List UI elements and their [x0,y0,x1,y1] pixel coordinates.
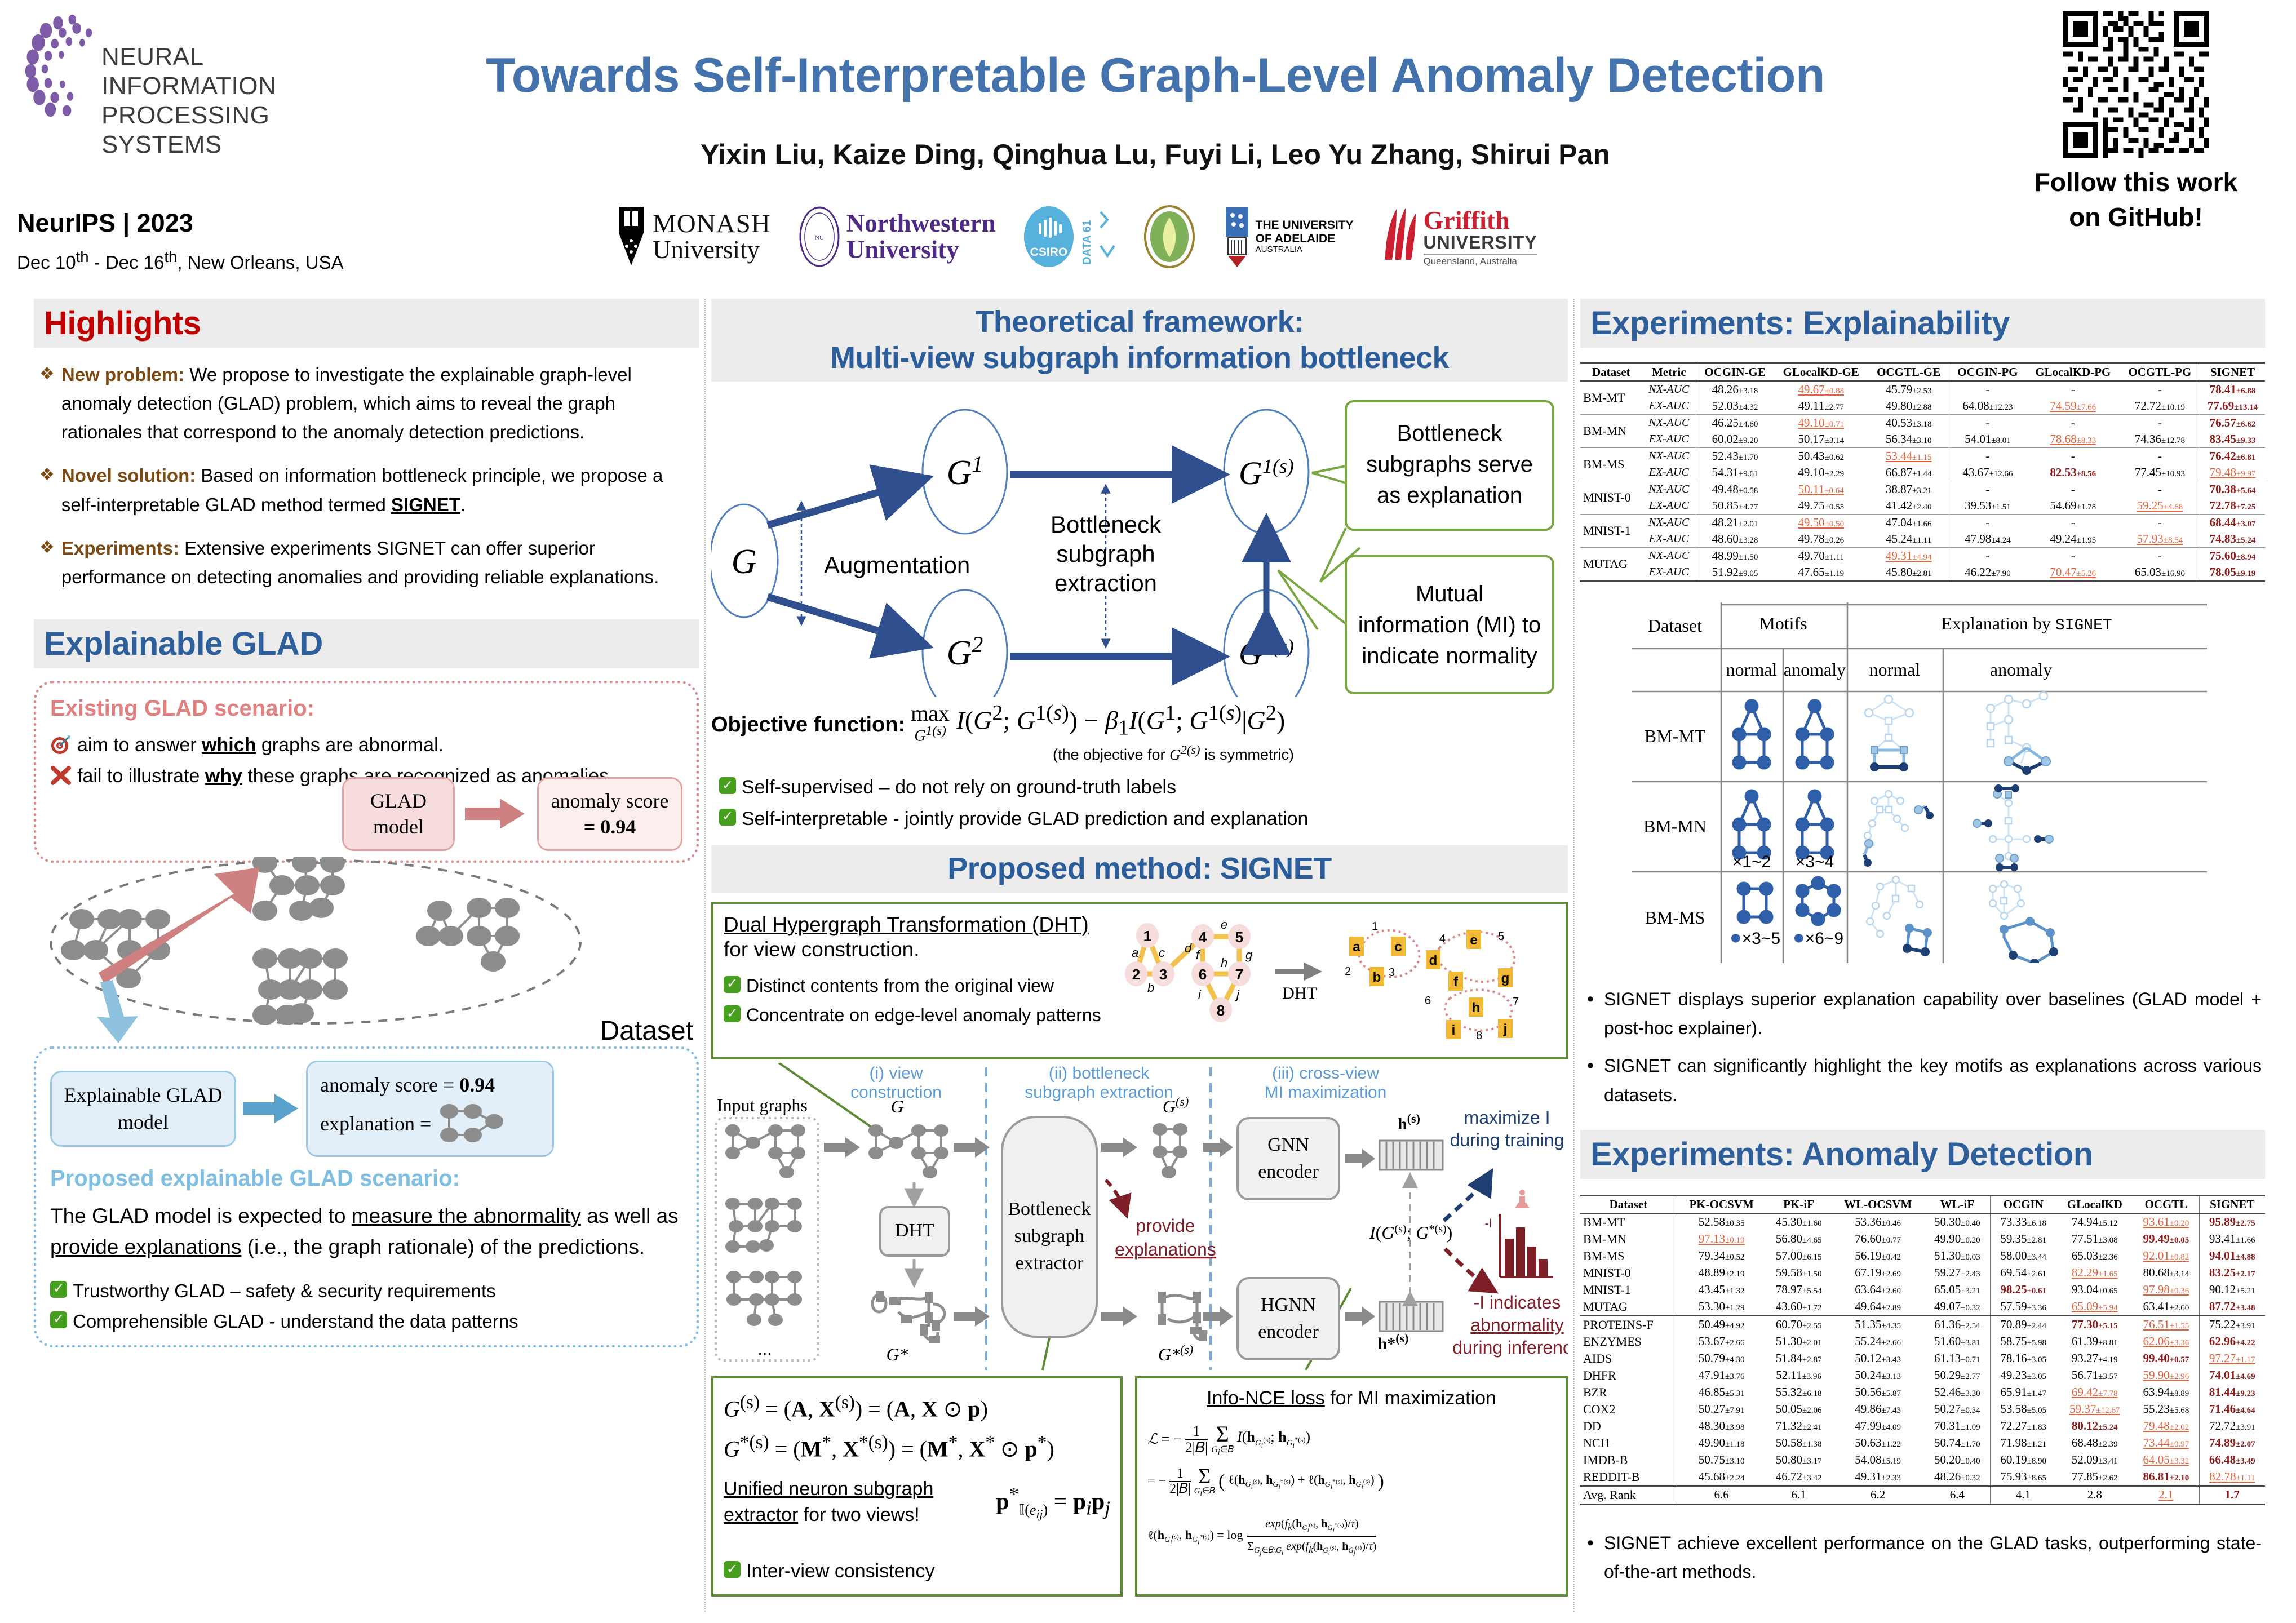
table-cell: 47.98±4.24 [1949,531,2026,548]
svg-text:extraction: extraction [1054,570,1157,596]
table-cell: 99.40±0.57 [2133,1350,2199,1367]
subgraph-equation-box: G(s) = (A, X(s)) = (A, X ⊙ p) G*(s) = (M… [711,1376,1123,1597]
column-header: OCGIN-GE [1696,363,1774,382]
table-cell: 97.27±1.17 [2199,1350,2265,1367]
table-cell: 74.83±5.24 [2200,531,2266,548]
explainability-table: DatasetMetricOCGIN-GEGLocalKD-GEOCGTL-GE… [1580,362,2265,584]
table-cell: 93.61±0.20 [2133,1213,2199,1231]
diamond-bullet-icon: ❖ [39,461,55,518]
table-cell: 74.89±2.07 [2199,1435,2265,1452]
anomaly-score-line1: anomaly score [546,788,674,814]
infonce-title-rest: for MI maximization [1325,1387,1496,1409]
table-row: MUTAG53.30±1.2943.60±1.7249.64±2.8949.07… [1580,1298,2265,1316]
check-icon: ✓ [719,809,736,826]
column-header: PK-OCSVM [1677,1195,1766,1213]
table-cell: 78.68±8.33 [2026,431,2120,448]
proposed-glad-scenario-box: Explainable GLAD model anomaly score = 0… [34,1046,699,1347]
check-icon: ✓ [724,1561,741,1578]
table-cell: 56.19±0.42 [1832,1248,1925,1265]
table-cell: 92.01±0.82 [2133,1248,2199,1265]
check-icon: ✓ [724,976,741,993]
table-row: MNIST-0NX-AUC49.48±0.5850.11±0.6438.87±3… [1580,481,2265,498]
table-cell: 74.94±5.12 [2056,1213,2133,1231]
svg-text:×3~4: ×3~4 [1796,853,1834,871]
table-cell: 77.69±13.14 [2200,398,2266,415]
table-cell: 79.48±9.97 [2200,464,2266,481]
dht-box: Dual Hypergraph Transformation (DHT) for… [711,902,1568,1059]
red-arrow-icon [465,796,527,831]
neurips-wordmark-line1: NEURAL INFORMATION [101,42,321,101]
table-cell: 59.35±2.81 [1991,1231,2056,1248]
svg-text:5: 5 [1235,929,1243,946]
svg-text:c: c [1394,939,1402,955]
section-theory-title-line2: Multi-view subgraph information bottlene… [721,340,1558,376]
neurips-wordmark: NEURAL INFORMATION PROCESSING SYSTEMS [101,42,321,159]
proposed-scenario-title: Proposed explainable GLAD scenario: [50,1166,682,1191]
signet-pipeline: (i) viewconstruction (ii) bottlenecksubg… [711,1063,1568,1373]
table-cell: 50.80±3.17 [1766,1452,1831,1469]
infonce-title: Info-NCE loss for MI maximization [1147,1387,1555,1409]
check-icon: ✓ [724,1005,741,1022]
theory-diagram: G G1 G2 G1(s) G2(s) Augmentation Bottlen… [711,382,1568,697]
svg-text:G(s): G(s) [1163,1094,1189,1116]
row-label: PROTEINS-F [1580,1316,1677,1333]
column-header: OCGTL-GE [1868,363,1949,382]
metric-label: EX-AUC [1642,531,1696,548]
column-header: OCGIN [1991,1195,2056,1213]
infonce-loss-box: Info-NCE loss for MI maximization ℒ = − … [1135,1376,1568,1597]
table-cell: 49.67±0.88 [1774,381,1868,398]
github-callout: Follow this work on GitHub! [1989,11,2282,234]
svg-text:g: g [1245,948,1253,962]
table-cell: 49.90±0.20 [1925,1231,1991,1248]
svg-text:b: b [1147,981,1154,995]
signet-keyword: SIGNET [391,494,460,515]
svg-text:DHT: DHT [895,1220,934,1241]
table-cell: 62.06±3.36 [2133,1333,2199,1350]
svg-text:G*(s): G*(s) [1158,1342,1193,1364]
metric-label: NX-AUC [1642,515,1696,531]
svg-text:G: G [732,543,757,581]
table-cell: 6.2 [1832,1486,1925,1505]
table-cell: 76.57±6.62 [2200,415,2266,432]
explainable-model-label: Explainable GLAD model [64,1084,223,1134]
table-cell: 66.48±3.49 [2199,1452,2265,1469]
svg-text:during training: during training [1450,1130,1564,1150]
proposed-explanation-label: explanation = [320,1110,431,1138]
table-cell: 56.80±4.65 [1766,1231,1831,1248]
table-cell: 51.30±0.03 [1925,1248,1991,1265]
equation-1: G(s) = (A, X(s)) = (A, X ⊙ p) [724,1387,1110,1427]
anomaly-score-line2: = 0.94 [546,814,674,840]
check-icon: ✓ [50,1281,67,1298]
row-label: BM-MN [1580,415,1642,448]
list-item: SIGNET displays superior explanation cap… [1584,985,2262,1043]
theory-checks: ✓ Self-supervised – do not rely on groun… [711,774,1568,833]
objective-function-row: Objective function: max G1(s) I(G2; G1(s… [711,700,1568,744]
table-cell: 59.90±2.96 [2133,1367,2199,1384]
motif-table-wrapper: Dataset Motifs Explanation by SIGNET nor… [1580,602,2265,966]
column-header: Dataset [1580,1195,1677,1213]
table-cell: 50.12±3.43 [1832,1350,1925,1367]
infonce-title-underlined: Info-NCE loss [1207,1387,1325,1409]
table-cell: 50.20±0.40 [1925,1452,1991,1469]
table-cell: 75.93±8.65 [1991,1469,2056,1486]
blue-arrow-icon [243,1092,299,1125]
poster-canvas: NEURAL INFORMATION PROCESSING SYSTEMS Ne… [0,0,2296,1623]
table-cell: 49.80±2.88 [1868,398,1949,415]
conference-dates: Dec 10th - Dec 16th, New Orleans, USA [17,248,344,273]
method-formula-boxes: G(s) = (A, X(s)) = (A, X ⊙ p) G*(s) = (M… [711,1376,1568,1597]
table-cell: 78.16±3.05 [1991,1350,2056,1367]
svg-text:during inference: during inference [1452,1337,1568,1358]
table-cell: 45.30±1.60 [1766,1213,1831,1231]
table-cell: 65.91±1.47 [1991,1384,2056,1401]
theory-check-1: ✓ Self-supervised – do not rely on groun… [719,774,1568,801]
svg-text:j: j [1503,1022,1508,1037]
author-list: Yixin Liu, Kaize Ding, Qinghua Lu, Fuyi … [338,138,1973,171]
objective-function-formula: max G1(s) I(G2; G1(s)) − β1I(G1; G1(s)|G… [911,700,1285,744]
row-label: Avg. Rank [1580,1486,1677,1505]
svg-text:8: 8 [1217,1002,1225,1019]
svg-text:h(s): h(s) [1398,1111,1420,1133]
table-cell: 45.79±2.53 [1868,381,1949,398]
dht-title: Dual Hypergraph Transformation (DHT) [724,913,1124,937]
svg-text:...: ... [757,1340,772,1359]
svg-text:6: 6 [1425,995,1431,1007]
svg-text:a: a [1132,946,1138,960]
svg-text:(iii) cross-view: (iii) cross-view [1272,1064,1379,1083]
table-cell: 64.05±3.32 [2133,1452,2199,1469]
svg-text:2: 2 [1345,965,1351,978]
svg-text:BM-MN: BM-MN [1643,816,1707,836]
table-cell: 68.44±3.07 [2200,515,2266,531]
github-text-line1: Follow this work [1989,165,2282,199]
table-cell: 50.27±7.91 [1677,1401,1766,1418]
column-header: SIGNET [2200,363,2266,382]
table-row: AIDS50.79±4.3051.84±2.8750.12±3.4361.13±… [1580,1350,2265,1367]
row-label: MNIST-0 [1580,481,1642,515]
table-cell: 79.48±2.02 [2133,1418,2199,1435]
neurips-logo: NEURAL INFORMATION PROCESSING SYSTEMS [17,11,321,118]
table-cell: 54.01±8.01 [1949,431,2026,448]
theory-check-1-text: Self-supervised – do not rely on ground-… [742,774,1176,801]
table-cell: 57.59±3.36 [1991,1298,2056,1316]
explanation-subgraph-icon [437,1102,504,1146]
aim-text-post: graphs are abnormal. [256,734,444,756]
poster-header: NEURAL INFORMATION PROCESSING SYSTEMS Ne… [0,0,2296,282]
svg-text:G1(s): G1(s) [1239,455,1294,491]
table-row: MNIST-048.89±2.1959.58±1.5067.19±2.6959.… [1580,1265,2265,1281]
table-cell: 71.46±4.64 [2199,1401,2265,1418]
section-highlights-header: Highlights [34,299,699,348]
metric-label: NX-AUC [1642,381,1696,398]
table-cell: 90.12±5.21 [2199,1281,2265,1298]
explanation-output-box: anomaly score = 0.94 explanation = [306,1061,554,1157]
table-cell: - [2120,381,2200,398]
logo-monash: MONASH University [614,202,771,272]
highlights-list: ❖ New problem: We propose to investigate… [34,348,699,610]
table-cell: 55.32±6.18 [1766,1384,1831,1401]
table-cell: 93.41±1.66 [2199,1231,2265,1248]
table-cell: 49.10±0.71 [1774,415,1868,432]
table-cell: 51.30±2.01 [1766,1333,1831,1350]
svg-text:G2: G2 [947,632,983,673]
row-label: BM-MS [1580,448,1642,481]
table-cell: 50.17±3.14 [1774,431,1868,448]
table-cell: 41.42±2.40 [1868,498,1949,515]
proposed-scenario-paragraph: The GLAD model is expected to measure th… [50,1200,682,1263]
table-cell: 58.75±5.98 [1991,1333,2056,1350]
table-cell: 65.05±3.21 [1925,1281,1991,1298]
svg-text:HGNN: HGNN [1261,1294,1316,1315]
existing-glad-scenario-box: Existing GLAD scenario: aim to answer wh… [34,681,699,863]
svg-text:Input graphs: Input graphs [717,1095,808,1115]
table-cell: 54.08±5.19 [1832,1452,1925,1469]
column-header: Metric [1642,363,1696,382]
table-cell: 39.53±1.51 [1949,498,2026,515]
table-cell: 78.05±9.19 [2200,564,2266,582]
table-cell: 97.13±0.19 [1677,1231,1766,1248]
table-cell: 74.59±7.66 [2026,398,2120,415]
left-column: Highlights ❖ New problem: We propose to … [34,299,699,1347]
column-header: Dataset [1580,363,1642,382]
table-cell: 2.8 [2056,1486,2133,1505]
table-cell: 82.53±8.56 [2026,464,2120,481]
svg-text:3: 3 [1159,966,1167,983]
svg-text:Bottleneck: Bottleneck [1008,1199,1091,1220]
svg-text:g: g [1501,971,1510,986]
svg-text:1: 1 [1143,928,1151,944]
table-cell: 71.32±2.41 [1766,1418,1831,1435]
objective-function-label: Objective function: [711,700,905,737]
table-cell: 87.72±3.48 [2199,1298,2265,1316]
table-cell: 93.04±0.65 [2056,1281,2133,1298]
table-cell: 70.89±2.44 [1991,1316,2056,1333]
table-cell: 71.98±1.21 [1991,1435,2056,1452]
table-row: MNIST-143.45±1.3278.97±5.5463.64±2.6065.… [1580,1281,2265,1298]
row-label: MUTAG [1580,1298,1677,1316]
table-cell: 50.56±5.87 [1832,1384,1925,1401]
paragraph-underline1: measure the abnormality [352,1204,581,1227]
table-cell: 74.36±12.78 [2120,431,2200,448]
table-cell: 52.09±3.41 [2056,1452,2133,1469]
svg-text:7: 7 [1235,966,1243,983]
svg-text:Motifs: Motifs [1759,613,1807,633]
table-cell: 51.92±9.05 [1696,564,1774,582]
table-cell: 64.08±12.23 [1949,398,2026,415]
table-row: NCI149.90±1.1850.58±1.3850.63±1.2250.74±… [1580,1435,2265,1452]
table-cell: 43.45±1.32 [1677,1281,1766,1298]
svg-text:encoder: encoder [1258,1322,1319,1342]
svg-text:Bottleneck: Bottleneck [1397,421,1503,446]
table-cell: 76.42±6.81 [2200,448,2266,465]
dataset-label: Dataset [600,1016,693,1046]
row-label: MNIST-0 [1580,1265,1677,1281]
table-cell: 54.69±1.78 [2026,498,2120,515]
table-cell: 47.04±1.66 [1868,515,1949,531]
highlight-lead: New problem: [61,364,184,385]
svg-text:h: h [1221,956,1227,970]
theory-check-2: ✓ Self-interpretable - jointly provide G… [719,805,1568,833]
svg-text:●×6~9: ●×6~9 [1793,925,1843,948]
svg-text:NU: NU [815,234,824,241]
table-cell: 50.58±1.38 [1766,1435,1831,1452]
table-cell: - [1949,548,2026,565]
table-cell: 86.81±2.10 [2133,1469,2199,1486]
diamond-bullet-icon: ❖ [39,360,55,446]
qr-code-icon[interactable] [2063,11,2209,158]
proposed-score-label: anomaly score = 0.94 [320,1071,544,1099]
svg-text:Explanation by SIGNET: Explanation by SIGNET [1941,613,2112,635]
section-explainable-glad-title: Explainable GLAD [44,625,689,663]
table-cell: 49.31±4.94 [1868,548,1949,565]
table-row: COX250.27±7.9150.05±2.0649.86±7.4350.27±… [1580,1401,2265,1418]
table-cell: 59.37±12.67 [2056,1401,2133,1418]
table-cell: 79.34±0.52 [1677,1248,1766,1265]
column-header: OCGIN-PG [1949,363,2026,382]
loss-equation-1: ℒ = − 1 2|𝐵| Σ Gi∈𝐵 I(hGi(s); hGi*(s)) [1147,1423,1555,1456]
table-cell: 56.71±3.57 [2056,1367,2133,1384]
metric-label: NX-AUC [1642,448,1696,465]
svg-text:i: i [1198,987,1202,1001]
table-cell: 76.51±1.55 [2133,1316,2199,1333]
svg-text:G2(s): G2(s) [1239,635,1294,672]
table-cell: 43.67±12.66 [1949,464,2026,481]
dht-check-1-text: Distinct contents from the original view [746,973,1054,999]
svg-text:G*: G* [886,1344,908,1364]
svg-text:Bottleneck: Bottleneck [1051,511,1162,538]
column-header: OCGTL-PG [2120,363,2200,382]
table-cell: 83.45±9.33 [2200,431,2266,448]
table-cell: 50.43±0.62 [1774,448,1868,465]
table-cell: 63.41±2.60 [2133,1298,2199,1316]
signet-pipeline-svg: (i) viewconstruction (ii) bottlenecksubg… [711,1063,1568,1370]
table-cell: 75.22±3.91 [2199,1316,2265,1333]
table-cell: 67.19±2.69 [1832,1265,1925,1281]
table-cell: 52.46±3.30 [1925,1384,1991,1401]
table-cell: 57.93±8.54 [2120,531,2200,548]
row-label: IMDB-B [1580,1452,1677,1469]
logo-caas [1143,202,1195,272]
dht-transformation-diagram: 123 45678 abcd efgh ij DHT [1124,913,1552,1048]
table-cell: 49.23±3.05 [1991,1367,2056,1384]
table-cell: 50.05±2.06 [1766,1401,1831,1418]
table-cell: 68.48±2.39 [2056,1435,2133,1452]
table-row: EX-AUC51.92±9.0547.65±1.1945.80±2.8146.2… [1580,564,2265,582]
table-cell: 48.26±3.18 [1696,381,1774,398]
metric-label: NX-AUC [1642,548,1696,565]
table-cell: - [2120,415,2200,432]
svg-text:explanations: explanations [1115,1239,1216,1260]
target-icon [50,734,72,755]
table-cell: 78.41±6.88 [2200,381,2266,398]
table-cell: 53.44±1.15 [1868,448,1949,465]
svg-text:a: a [1353,939,1360,955]
section-explainable-glad-header: Explainable GLAD [34,619,699,668]
proposed-check-2-text: Comprehensible GLAD - understand the dat… [73,1308,518,1335]
table-cell: - [2026,415,2120,432]
table-cell: 52.58±0.35 [1677,1213,1766,1231]
table-cell: 6.6 [1677,1486,1766,1505]
svg-text:maximize I: maximize I [1464,1107,1550,1128]
table-cell: 2.1 [2133,1486,2199,1505]
row-label: BM-MN [1580,1231,1677,1248]
table-row: PROTEINS-F50.49±4.9260.70±2.5551.35±4.35… [1580,1316,2265,1333]
row-label: COX2 [1580,1401,1677,1418]
section-method-header: Proposed method: SIGNET [711,845,1568,893]
table-cell: 6.4 [1925,1486,1991,1505]
table-cell: 49.86±7.43 [1832,1401,1925,1418]
svg-text:normal: normal [1869,659,1921,680]
column-divider-1 [704,299,706,1612]
table-cell: 80.12±5.24 [2056,1418,2133,1435]
github-text-line2: on GitHub! [1989,199,2282,234]
table-cell: 58.00±3.44 [1991,1248,2056,1265]
svg-text:BM-MS: BM-MS [1645,907,1705,928]
neurips-wordmark-line2: PROCESSING SYSTEMS [101,101,321,159]
table-cell: 70.47±5.26 [2026,564,2120,582]
unified-extractor-rest: for two views! [798,1504,919,1526]
table-cell: - [2120,515,2200,531]
objective-function-note: (the objective for G2(s) is symmetric) [779,743,1568,764]
table-cell: - [2026,381,2120,398]
table-cell: 69.54±2.61 [1991,1265,2056,1281]
table-cell: 46.85±5.31 [1677,1384,1766,1401]
proposed-check-2: ✓ Comprehensible GLAD - understand the d… [50,1308,682,1335]
svg-text:Augmentation: Augmentation [824,552,970,578]
table-cell: 1.7 [2199,1486,2265,1505]
table-cell: 59.25±4.68 [2120,498,2200,515]
table-cell: 72.27±1.83 [1991,1418,2056,1435]
table-cell: 48.26±0.32 [1925,1469,1991,1486]
table-cell: 59.58±1.50 [1766,1265,1831,1281]
row-label: BM-MS [1580,1248,1677,1265]
table-cell: 49.75±0.55 [1774,498,1868,515]
table-cell: 66.87±1.44 [1868,464,1949,481]
highlight-lead: Experiments: [61,538,179,558]
highlight-lead: Novel solution: [61,465,196,486]
svg-text:e: e [1221,917,1227,932]
table-cell: 72.78±7.25 [2200,498,2266,515]
table-cell: 53.58±5.05 [1991,1401,2056,1418]
table-cell: 97.98±0.36 [2133,1281,2199,1298]
table-cell: 75.60±8.94 [2200,548,2266,565]
table-cell: 82.78±1.11 [2199,1469,2265,1486]
table-cell: 69.42±7.78 [2056,1384,2133,1401]
table-row: MUTAGNX-AUC48.99±1.5049.70±1.1149.31±4.9… [1580,548,2265,565]
glad-model-label: GLADmodel [352,788,445,841]
table-cell: 61.13±0.71 [1925,1350,1991,1367]
paragraph-underline2: provide explanations [50,1235,241,1258]
list-item: SIGNET achieve excellent performance on … [1584,1529,2262,1586]
table-row: EX-AUC54.31±9.6149.10±2.2966.87±1.4443.6… [1580,464,2265,481]
svg-text:anomaly: anomaly [1990,659,2052,680]
table-row: BZR46.85±5.3155.32±6.1850.56±5.8752.46±3… [1580,1384,2265,1401]
table-cell: 83.25±2.17 [2199,1265,2265,1281]
svg-text:DHT: DHT [1282,984,1317,1003]
table-cell: 40.53±3.18 [1868,415,1949,432]
table-cell: 50.63±1.22 [1832,1435,1925,1452]
row-label: ENZYMES [1580,1333,1677,1350]
row-label: NCI1 [1580,1435,1677,1452]
column-header: SIGNET [2199,1195,2265,1213]
table-cell: 55.24±2.66 [1832,1333,1925,1350]
table-row: EX-AUC50.85±4.7749.75±0.5541.42±2.4039.5… [1580,498,2265,515]
table-row: BM-MN97.13±0.1956.80±4.6576.60±0.7749.90… [1580,1231,2265,1248]
table-cell: 63.64±2.60 [1832,1281,1925,1298]
table-cell: 77.51±3.08 [2056,1231,2133,1248]
